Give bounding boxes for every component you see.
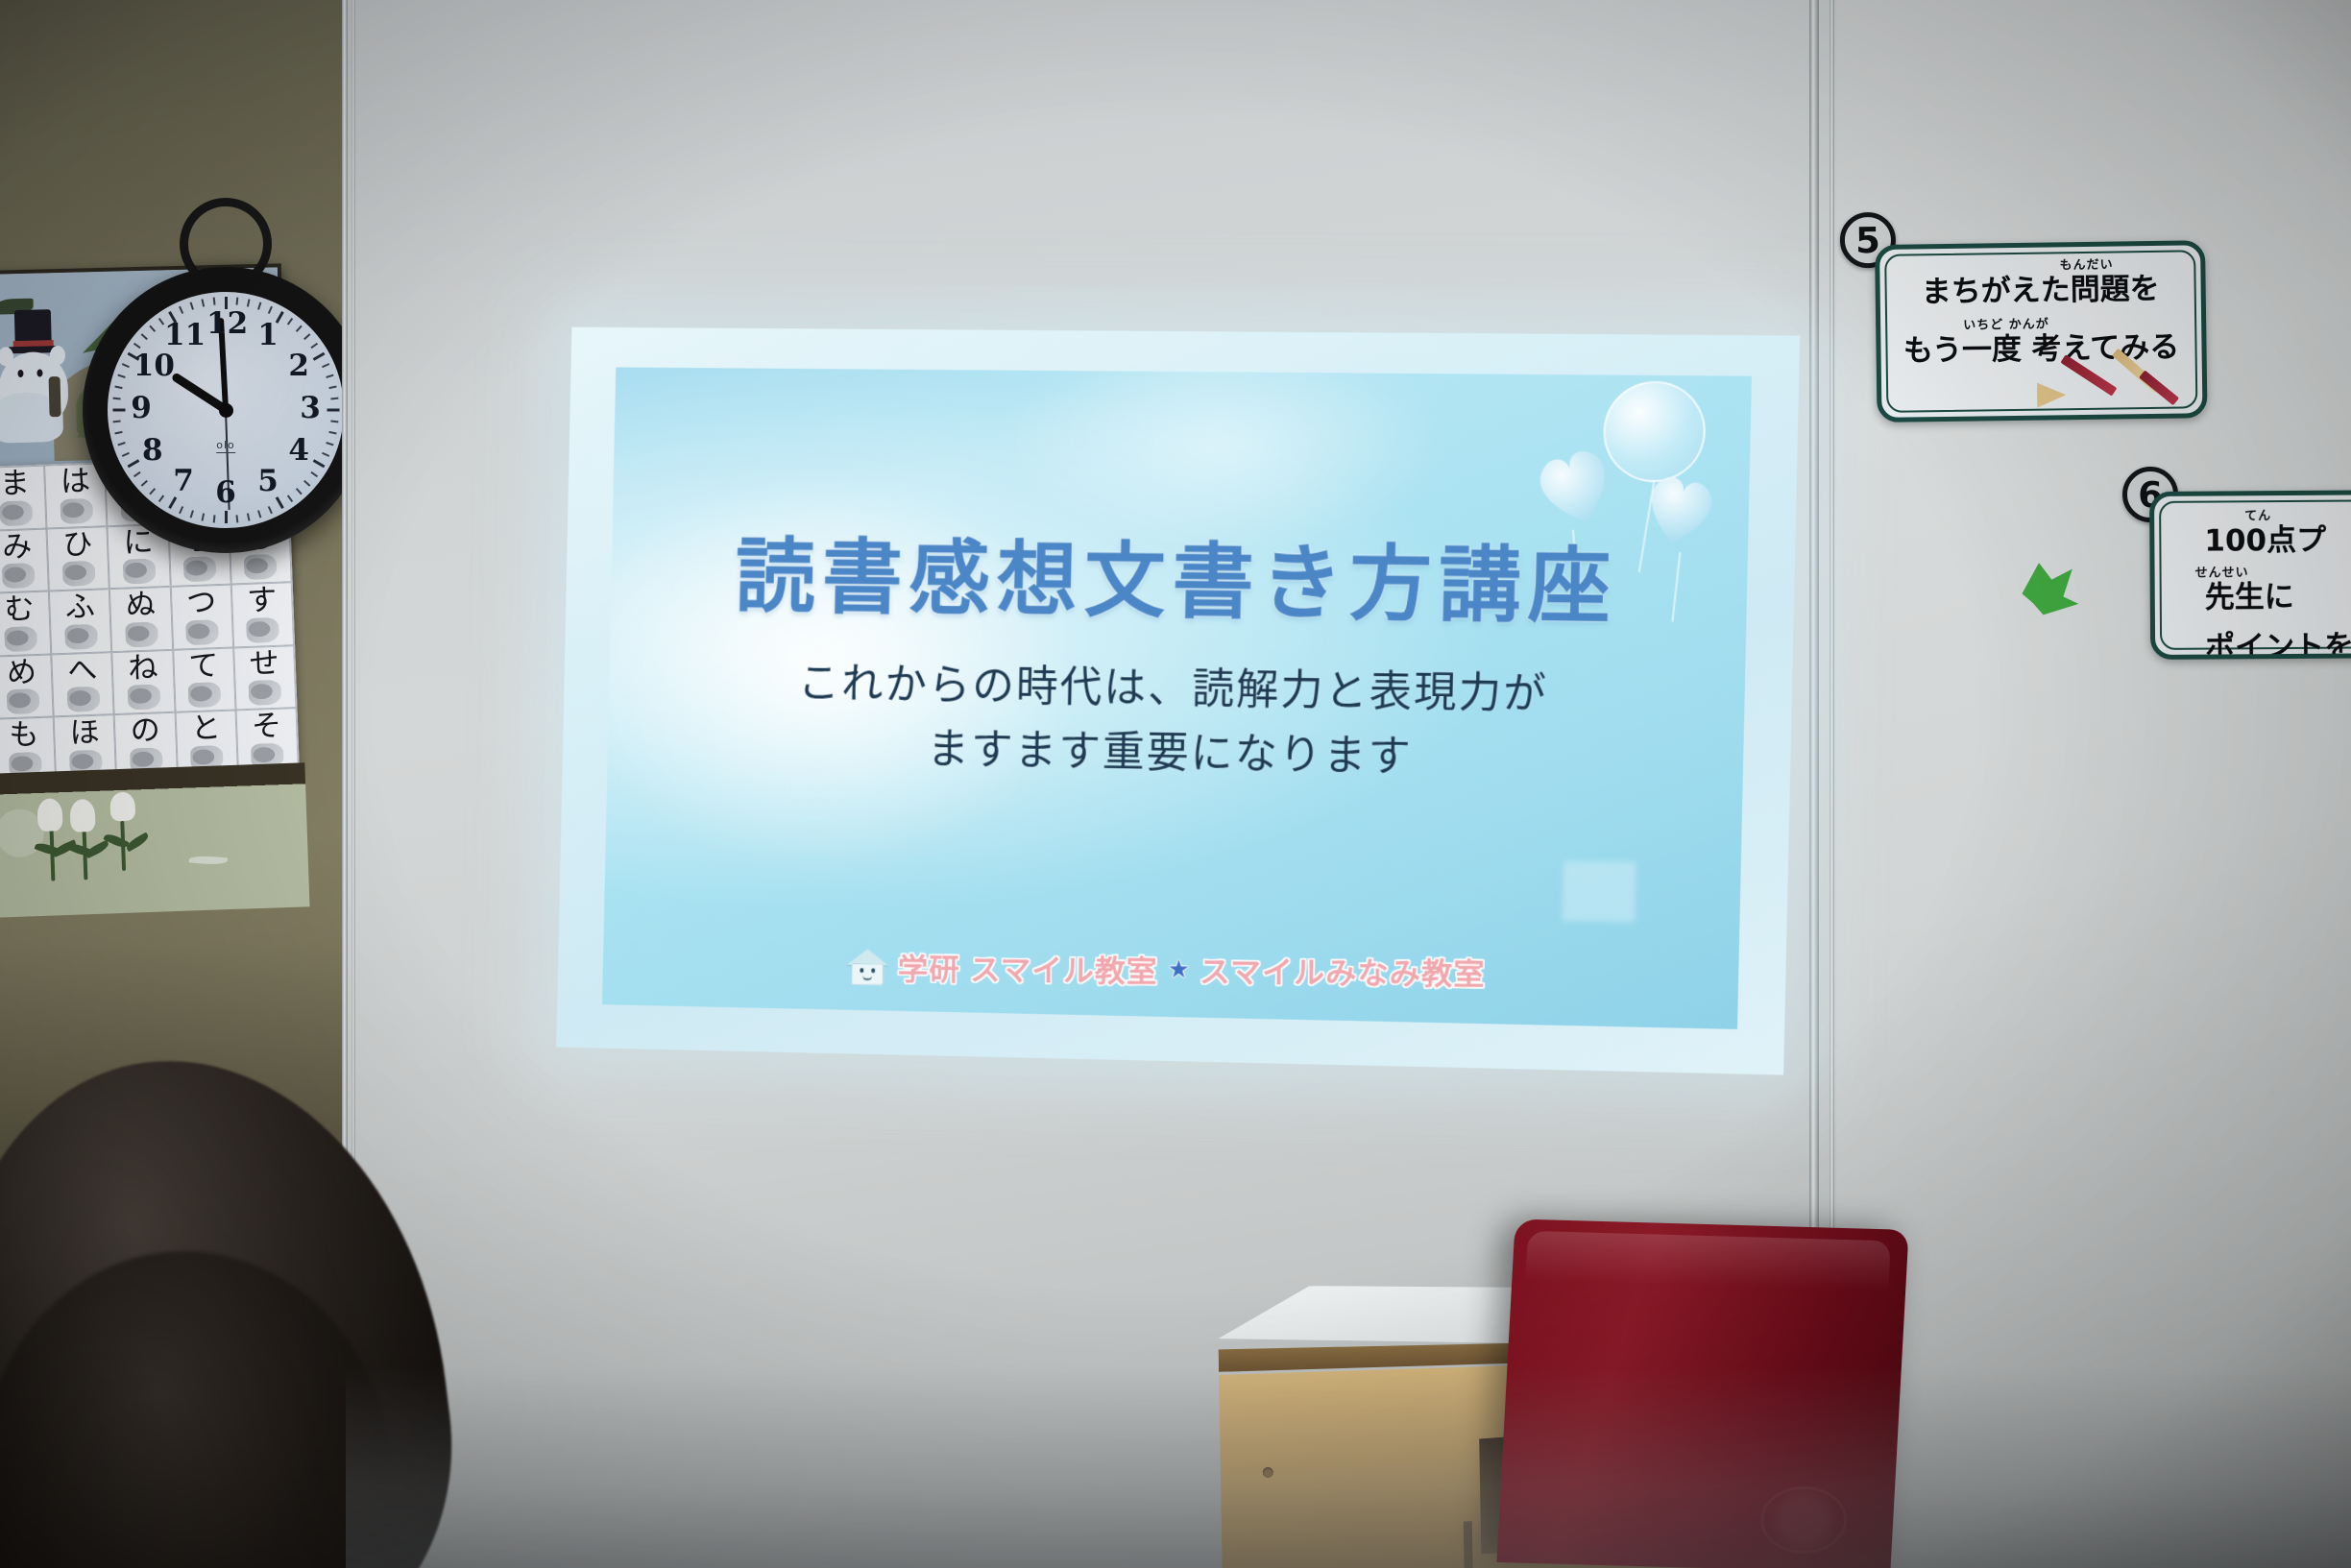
slide-decor-square [1563,861,1636,923]
clock-face: olo 121234567891011 [108,292,344,528]
clock-tick [287,495,293,502]
clock-tick [190,302,194,309]
flower-display-board [0,762,310,917]
clock-numeral: 12 [206,306,245,341]
clock-tick [179,506,183,514]
kana-cell: ぬ [109,587,173,652]
clock-tick [114,431,122,435]
clock-tick [296,488,303,495]
sign-line: いちど かんが もう一度 考えてみる [1896,330,2186,368]
clock-tick [117,442,125,446]
sign-furigana: いちど かんが [1963,318,2049,333]
clock-numeral: 1 [249,318,287,352]
clock-tick [117,374,125,378]
kana-cell: む [0,591,51,657]
kana-picture-icon [0,500,33,526]
clock-tick [296,326,303,332]
clock-tick [257,302,261,309]
kana-cell: つ [170,585,233,650]
clock-numeral: 6 [206,475,245,510]
kana-cell: へ [51,652,114,717]
sign-line-text: ポイントを [2205,630,2351,660]
pencil-illustration [2037,364,2182,410]
sign-line-text: もう一度 考えてみる [1903,329,2180,368]
clock-numeral: 10 [133,349,172,383]
kana-letter: て [188,651,219,682]
sign-furigana: もんだい [2060,259,2114,274]
clock-tick [133,471,141,477]
kana-letter: も [9,720,39,751]
right-wall-panel [1836,0,2351,1568]
clock-tick [213,515,216,522]
clock-tick [201,299,205,306]
clock-tick [330,421,338,423]
kana-picture-icon [183,556,217,582]
projected-slide: 読書感想文書き方講座 これからの時代は、読解力と表現力が ますます重要になります… [556,327,1800,1075]
clock-tick [303,333,310,340]
kana-picture-icon [1,563,35,589]
kana-letter: む [4,594,35,625]
sign-card: もんだい まちがえた問題を いちど かんが もう一度 考えてみる [1875,240,2208,422]
clock-tick [122,363,130,368]
clock-tick [322,363,329,368]
paper-flower [69,799,95,832]
kana-cell: ふ [49,589,112,654]
sign-line: ポイントを [2170,630,2351,660]
kana-picture-icon [185,619,219,645]
clock-tick [114,385,122,389]
sign-card: てん 100点プ せんせい 先生に ポイントを [2149,490,2351,660]
kana-letter: つ [186,588,217,618]
paper-flower [109,791,135,821]
clock-tick [236,515,239,522]
clock-tick [322,452,329,457]
kana-letter: ふ [64,592,95,623]
paper-flower [36,798,62,832]
kana-cell: せ [233,645,297,711]
clock-tick [213,298,216,305]
clock-tick [257,510,261,518]
clock-tick [236,298,239,305]
kana-letter: せ [249,649,279,680]
kana-cell: み [0,528,49,593]
kana-letter: へ [67,656,98,687]
sign-line: もんだい まちがえた問題を [1895,272,2185,309]
clock-tick [113,421,121,423]
kana-letter: の [130,716,160,747]
clock-numeral: 4 [279,433,318,468]
kana-cell: め [0,654,54,719]
clock-tick [122,452,130,457]
clock-tick [113,398,121,400]
kana-picture-icon [123,559,157,585]
clock-tick [310,471,318,477]
kana-letter: そ [252,712,282,742]
kana-cell: ね [112,650,176,715]
screenshot-scene: まはなたさみひにちしむふぬつすめへねてせもほのとそ olo 1212345678… [0,0,2351,1568]
kana-picture-icon [244,554,278,580]
house-icon [846,949,888,985]
clock-numeral: 7 [164,464,203,498]
clock-tick [201,513,205,520]
slide-subtitle-line-1: これからの時代は、読解力と表現力が [797,660,1548,719]
clock-center-cap [219,403,233,418]
clock-numeral: 9 [122,391,160,425]
clock-numeral: 8 [133,433,172,468]
clock-tick [141,333,148,340]
sign-furigana: てん [2244,510,2271,524]
slide-footer: 学研 スマイル教室 ★ スマイルみなみ教室 [603,943,1739,997]
kana-letter: ぬ [125,591,156,621]
clock-tick [326,442,333,446]
kana-picture-icon [188,682,222,708]
sign-line: てん 100点プ [2169,523,2351,559]
balloon-icon [1602,381,1706,483]
slide-title: 読書感想文書き方講座 [610,510,1748,641]
clock-tick [328,431,336,435]
clock-tick [303,480,310,487]
footer-brand: 学研 [897,946,960,990]
sign-line-text: 100点プ [2204,523,2326,559]
kana-letter: と [190,713,221,744]
clock-tick [268,306,273,314]
kana-letter: ほ [69,718,100,749]
kana-picture-icon [66,687,100,712]
clock-tick [179,306,183,314]
kana-picture-icon [125,621,158,647]
star-icon: ★ [1167,955,1190,984]
clock-tick [326,374,333,378]
clock-tick [247,513,251,520]
clock-tick [330,398,338,400]
sign-line-text: まちがえた問題を [1921,272,2159,309]
clock-numeral: 2 [279,349,318,383]
kana-cell: す [231,582,295,647]
kana-letter: す [247,586,278,616]
kana-picture-icon [6,688,39,714]
clock-tick [141,480,148,487]
footer-classroom-1: スマイル教室 [970,946,1158,992]
clock-tick [149,326,156,332]
kana-letter: ま [0,469,30,499]
footer-classroom-2: スマイルみなみ教室 [1200,948,1486,995]
kana-picture-icon [246,617,279,643]
kana-letter: み [2,532,33,563]
clock-numeral: 3 [291,391,329,425]
kana-picture-icon [4,626,37,652]
sign-line-text: 先生に [2205,580,2294,615]
clock-tick [225,511,228,523]
sign-furigana: せんせい [2195,567,2249,581]
clock-tick [190,510,194,518]
clock-tick [287,318,293,326]
clock-brand: olo [216,439,235,453]
kana-picture-icon [249,680,282,706]
kana-cell: て [173,647,236,712]
kana-letter: ね [128,653,158,684]
kana-picture-icon [62,561,96,587]
clock-tick [149,488,156,495]
sign-line: せんせい 先生に [2170,580,2351,615]
kana-cell: ま [0,466,47,531]
clock-numeral: 5 [249,464,287,498]
kana-picture-icon [128,685,161,711]
slide-content: 読書感想文書き方講座 これからの時代は、読解力と表現力が ますます重要になります… [602,367,1752,1028]
kana-picture-icon [64,623,98,649]
floor-shadow [346,1366,2351,1568]
slide-subtitle: これからの時代は、読解力と表現力が ますます重要になります [607,650,1745,796]
kana-letter: め [7,658,37,688]
clock-tick [268,506,273,514]
clock-numeral: 11 [164,318,203,352]
wall-clock: olo 121234567891011 [83,267,369,553]
clock-tick [328,385,336,389]
